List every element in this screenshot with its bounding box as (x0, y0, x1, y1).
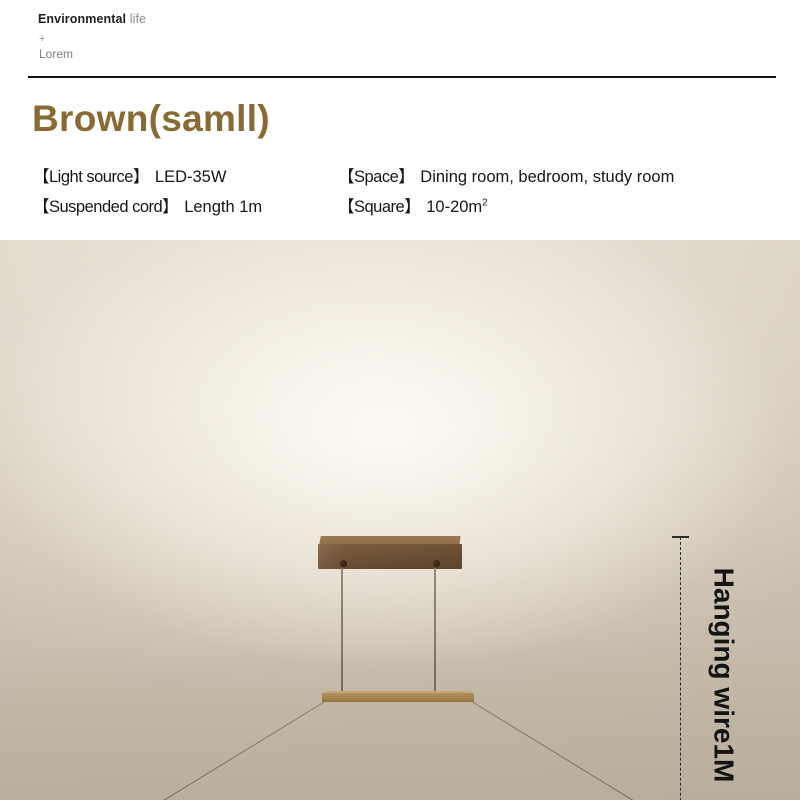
plus-icon: + (39, 34, 45, 45)
spec-item-suspended-cord: 【Suspended cord】Length 1m (33, 193, 262, 217)
dimension-label-hanging-wire: Hanging wire1M (703, 540, 743, 800)
product-photo: Hanging wire1M H3CM 90*18cm (0, 240, 800, 800)
suspension-wire (434, 568, 436, 695)
page-title: Brown(samll) (32, 100, 270, 139)
mount-screw-icon (433, 560, 440, 567)
spec-item-space: 【Space】Dining room, bedroom, study room (338, 163, 674, 187)
spec-row: 【Suspended cord】Length 1m 【Square】10-20m… (0, 193, 800, 223)
spec-key: 【Space】 (338, 168, 414, 186)
brand-name-strong: Environmental (38, 12, 126, 26)
spec-key: 【Suspended cord】 (33, 198, 178, 216)
spec-key: 【Square】 (338, 198, 420, 216)
ceiling-mount-plate (318, 536, 462, 572)
dimension-line-hanging-wire (680, 537, 682, 800)
spec-row: 【Light source】LED-35W 【Space】Dining room… (0, 163, 800, 193)
spec-item-light-source: 【Light source】LED-35W (33, 163, 226, 187)
dimension-cap-top (672, 536, 689, 538)
spec-value: Dining room, bedroom, study room (420, 168, 674, 186)
spec-item-square: 【Square】10-20m2 (338, 193, 488, 217)
crossbar-front-face (322, 693, 474, 702)
spec-value: 10-20m (426, 198, 482, 216)
square-unit-superscript: 2 (482, 198, 488, 209)
spec-value: LED-35W (155, 168, 227, 186)
header-section: Environmental life + Lorem Brown(samll) … (0, 0, 800, 240)
suspension-wire (341, 568, 343, 695)
product-detail-page: Environmental life + Lorem Brown(samll) … (0, 0, 800, 800)
suspension-crossbar (322, 691, 474, 702)
dimension-label-hanging-wire-text: Hanging wire1M (707, 568, 739, 783)
mount-screw-icon (340, 560, 347, 567)
spec-list: 【Light source】LED-35W 【Space】Dining room… (0, 163, 800, 227)
spec-value: Length 1m (184, 198, 262, 216)
header-divider (28, 76, 776, 78)
sub-brand-label: Lorem (39, 48, 73, 60)
dimension-label-height: H3CM (38, 788, 80, 800)
brand-name-light: life (126, 12, 146, 26)
spec-key: 【Light source】 (33, 168, 149, 186)
brand-logo: Environmental life (38, 12, 146, 26)
